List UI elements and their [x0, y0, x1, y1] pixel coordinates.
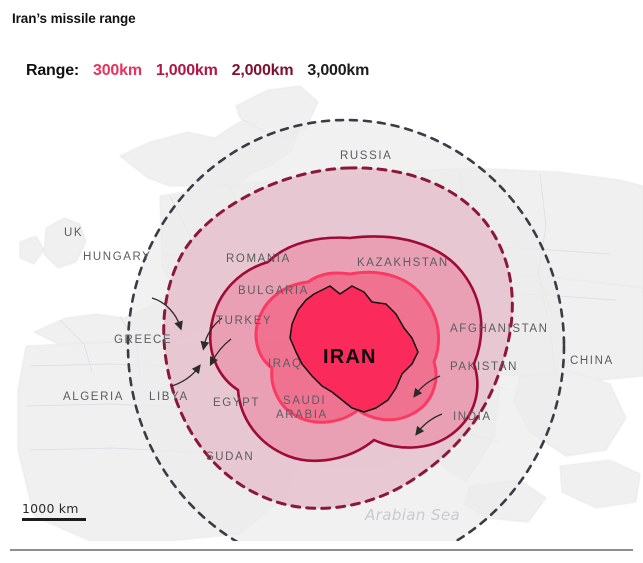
legend-item-300km[interactable]: 300km	[93, 62, 142, 80]
footer-divider	[10, 549, 633, 551]
page-title: Iran’s missile range	[12, 11, 136, 26]
legend-item-3000km[interactable]: 3,000km	[307, 62, 369, 80]
legend-item-2000km[interactable]: 2,000km	[232, 62, 294, 80]
legend-label: Range:	[26, 62, 79, 80]
infographic-root: Iran’s missile range	[0, 0, 643, 563]
legend-item-1000km[interactable]: 1,000km	[156, 62, 218, 80]
map-canvas[interactable]: Range: 300km 1,000km 2,000km 3,000km UK …	[0, 46, 643, 541]
scale-bar-label: 1000 km	[22, 501, 86, 516]
scale-bar-rule	[22, 518, 86, 521]
map-svg	[0, 46, 643, 541]
range-legend: Range: 300km 1,000km 2,000km 3,000km	[26, 62, 369, 80]
scale-bar: 1000 km	[22, 501, 86, 521]
